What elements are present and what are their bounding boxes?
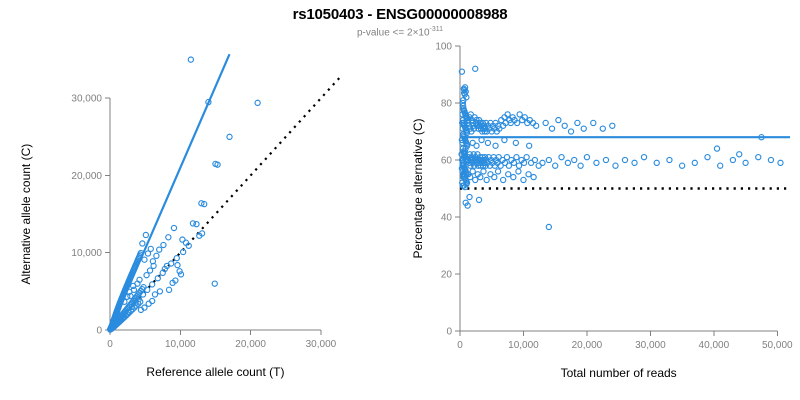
data-point [667,157,672,162]
data-point [622,157,627,162]
y-tick-label: 40 [441,213,453,224]
data-point [730,157,735,162]
data-point [581,126,586,131]
data-point [517,112,522,117]
right-scatter-panel: 010,00020,00030,00040,00050,000020406080… [400,0,800,400]
data-point [155,276,160,281]
y-tick-label: 10,000 [71,248,102,259]
y-tick-label: 30,000 [71,94,102,105]
data-point [157,289,162,294]
data-point [632,160,637,165]
data-point [546,224,551,229]
data-point [481,169,486,174]
data-point [166,287,171,292]
data-point [584,155,589,160]
x-tick-label: 0 [107,339,113,350]
data-point [654,160,659,165]
data-point [157,247,162,252]
y-tick-label: 20,000 [71,171,102,182]
data-point [565,160,570,165]
x-tick-label: 30,000 [306,339,337,350]
data-point [474,143,479,148]
data-point [527,143,532,148]
data-point [553,163,558,168]
data-point [484,177,489,182]
y-tick-label: 60 [441,156,453,167]
data-point [768,157,773,162]
x-axis-title: Total number of reads [561,366,677,380]
data-point [150,298,155,303]
data-point [495,169,500,174]
x-tick-label: 30,000 [635,340,666,351]
data-point [578,163,583,168]
points-group [459,66,783,229]
data-point [575,120,580,125]
data-point [140,241,145,246]
data-point [559,155,564,160]
data-point [714,146,719,151]
data-point [506,172,511,177]
data-point [143,232,148,237]
left-scatter-panel: 010,00020,00030,000010,00020,00030,000Re… [0,0,400,400]
data-point [516,163,521,168]
x-tick-label: 20,000 [572,340,603,351]
data-point [680,163,685,168]
data-point [473,66,478,71]
data-point [467,194,472,199]
data-point [171,225,176,230]
data-layer [108,54,340,332]
data-point [145,287,150,292]
data-point [142,257,147,262]
data-point [718,163,723,168]
data-point [692,160,697,165]
data-point [470,169,475,174]
data-point [591,120,596,125]
data-point [513,140,518,145]
data-point [506,163,511,168]
y-tick-label: 20 [441,270,453,281]
y-tick-label: 80 [441,99,453,110]
data-point [188,57,193,62]
data-point [492,175,497,180]
data-point [255,100,260,105]
data-point [524,155,529,160]
data-point [147,268,152,273]
data-point [152,292,157,297]
data-point [641,155,646,160]
y-axis-title: Percentage alternative (C) [411,118,425,258]
y-tick-label: 0 [96,326,102,337]
data-point [150,282,155,287]
data-point [493,143,498,148]
data-point [501,177,506,182]
data-point [166,235,171,240]
data-point [613,163,618,168]
data-point [144,273,149,278]
right-plot-svg: 010,00020,00030,00040,00050,000020406080… [400,0,800,400]
y-tick-label: 0 [446,327,452,338]
figure-root: rs1050403 - ENSG00000008988 p-value <= 2… [0,0,800,400]
x-tick-label: 40,000 [699,340,730,351]
data-point [600,126,605,131]
data-point [516,169,521,174]
data-point [594,160,599,165]
data-point [531,175,536,180]
data-point [549,126,554,131]
data-point [610,123,615,128]
x-tick-label: 0 [457,340,463,351]
data-point [756,155,761,160]
data-point [562,123,567,128]
x-tick-label: 20,000 [235,339,266,350]
data-point [743,160,748,165]
data-point [556,118,561,123]
data-point [532,157,537,162]
data-point [546,157,551,162]
data-layer [459,66,790,229]
data-point [514,155,519,160]
data-point [526,172,531,177]
data-point [174,256,179,261]
y-axis-title: Alternative allele count (C) [19,144,33,285]
x-axis-title: Reference allele count (T) [146,365,284,379]
x-tick-label: 10,000 [508,340,539,351]
data-point [180,237,185,242]
data-point [473,177,478,182]
data-point [212,281,217,286]
y-tick-label: 100 [435,42,452,53]
left-plot-svg: 010,00020,00030,000010,00020,00030,000Re… [0,0,400,400]
data-point [485,140,490,145]
data-point [148,246,153,251]
data-point [603,157,608,162]
data-point [568,129,573,134]
x-tick-label: 10,000 [165,339,196,350]
x-tick-label: 50,000 [762,340,793,351]
data-point [521,177,526,182]
points-group [108,57,261,332]
data-point [737,152,742,157]
data-point [175,263,180,268]
data-point [705,155,710,160]
data-point [154,253,159,258]
data-point [161,242,166,247]
data-point [572,157,577,162]
data-point [194,222,199,227]
data-point [543,120,548,125]
data-point [778,160,783,165]
data-point [476,197,481,202]
data-point [540,160,545,165]
data-point [227,134,232,139]
data-point [511,175,516,180]
